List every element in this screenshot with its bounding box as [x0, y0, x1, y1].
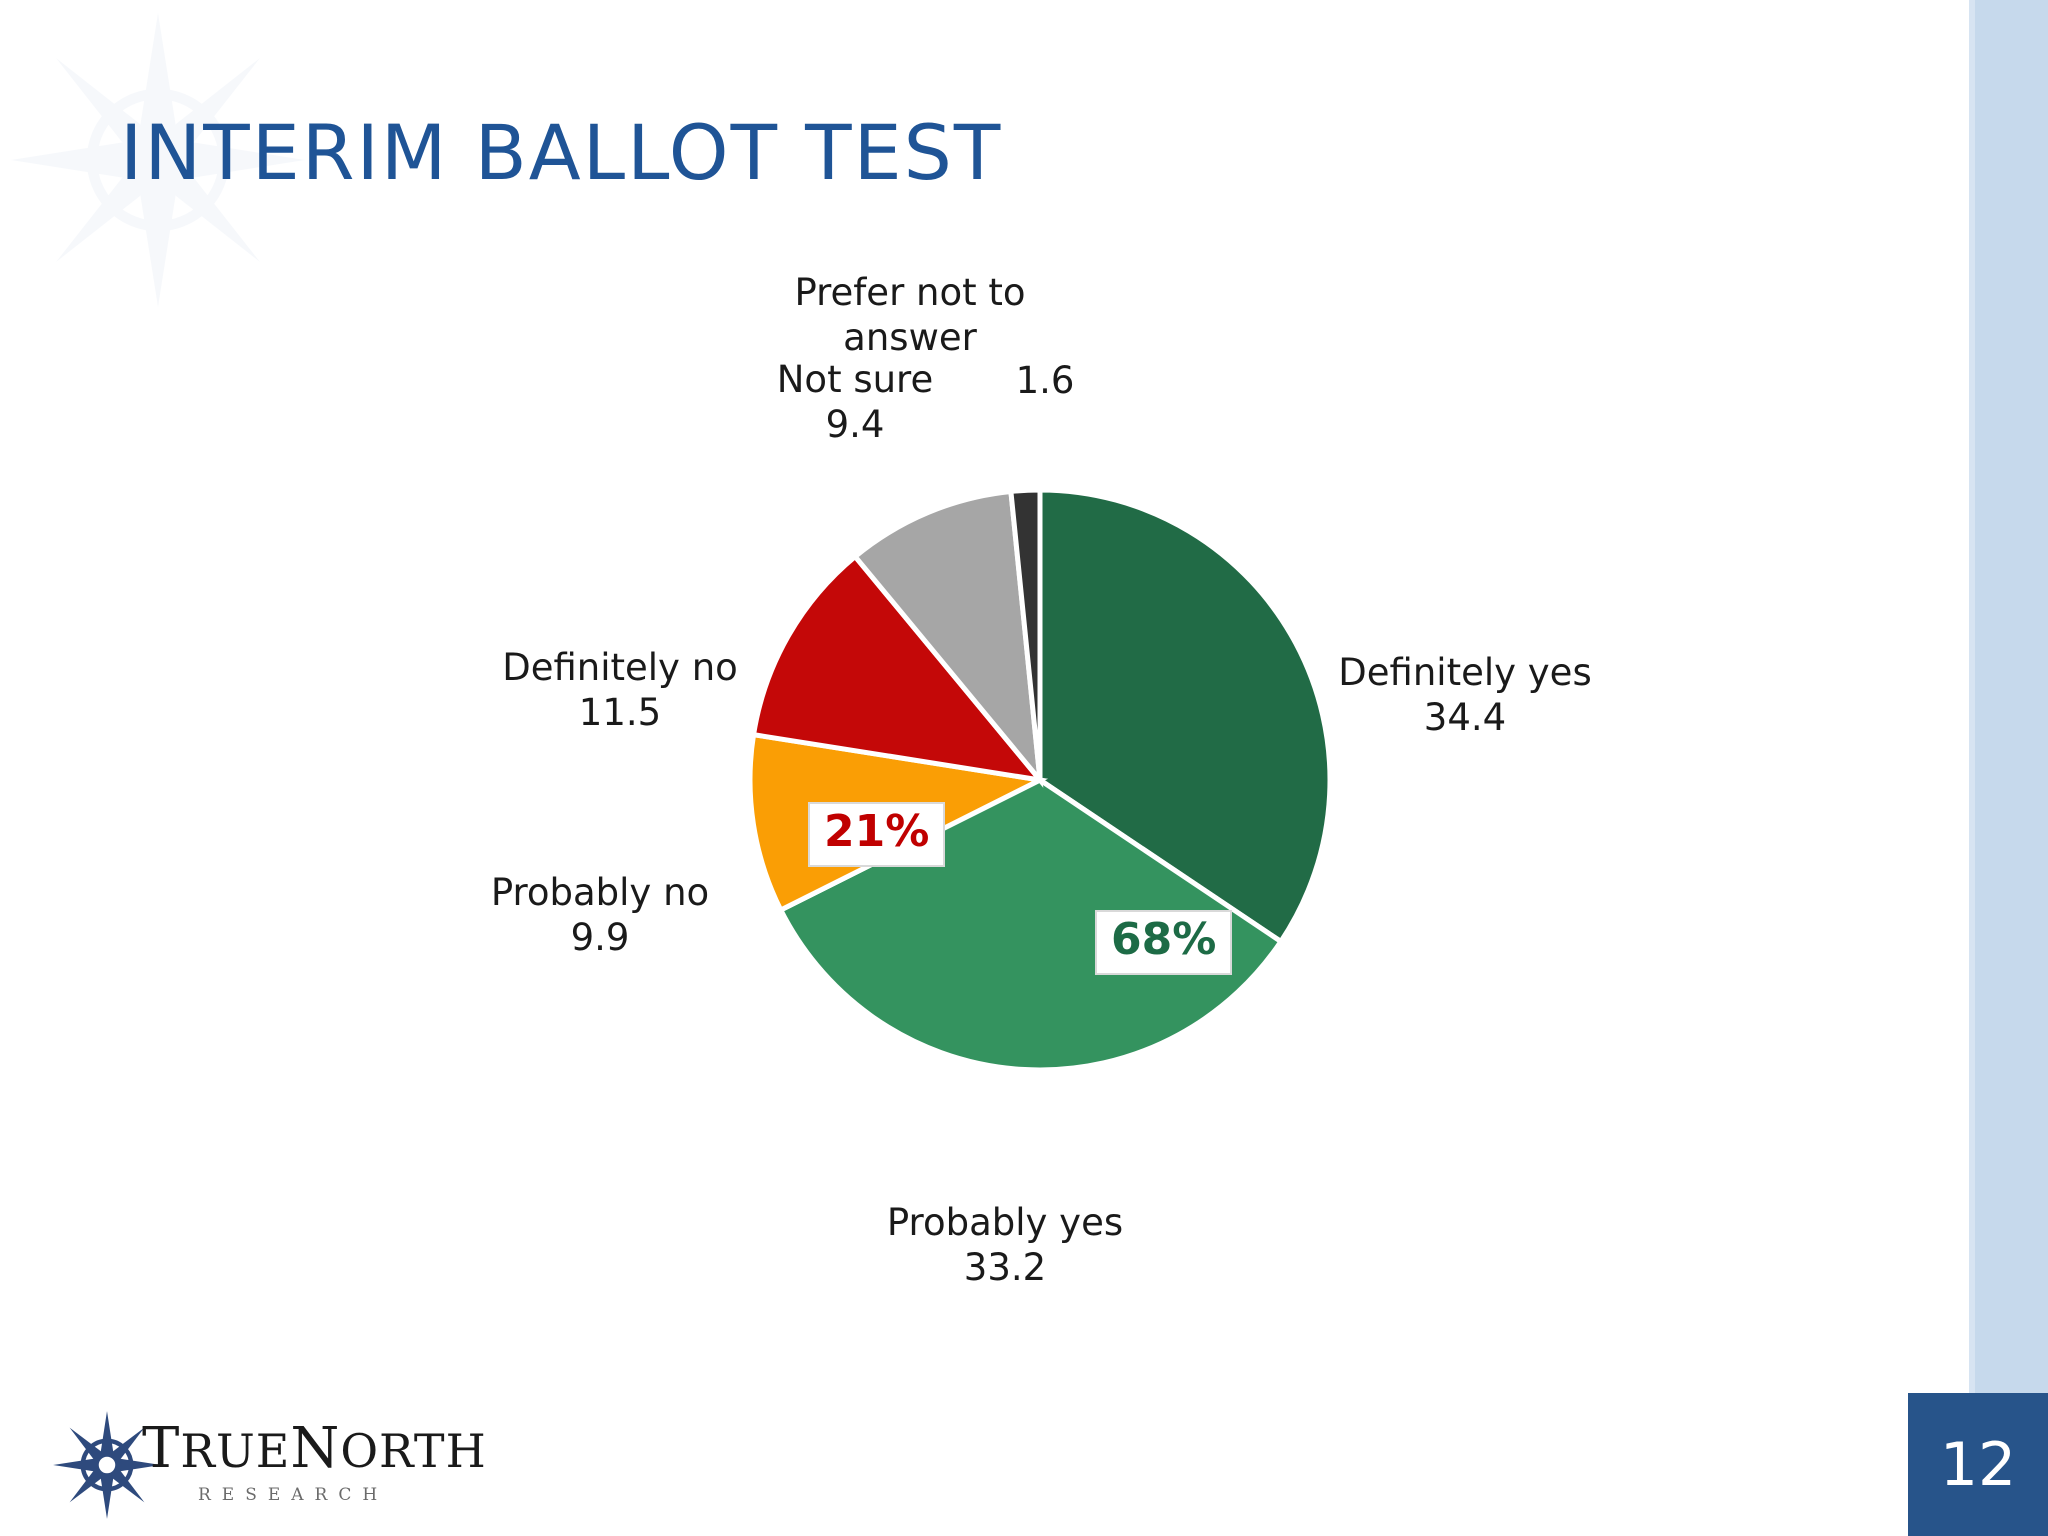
logo-name-rue: RUE [180, 1424, 290, 1478]
page-title: INTERIM BALLOT TEST [120, 108, 1002, 197]
pie-chart-svg [0, 250, 1975, 1330]
slice-label-not-sure: Not sure 9.4 [755, 357, 955, 447]
edge-band [1975, 0, 2048, 1536]
pie-chart: Prefer not to answer 1.6 Not sure 9.4 De… [0, 250, 1975, 1330]
slice-value-prefer-not-to-answer: 1.6 [985, 358, 1105, 403]
page-number: 12 [1908, 1430, 2048, 1500]
logo-subtitle: RESEARCH [198, 1485, 487, 1505]
slice-label-definitely-no: Definitely no 11.5 [470, 645, 770, 735]
slice-label-prefer-not-to-answer: Prefer not to answer [760, 270, 1060, 360]
slice-label-probably-no: Probably no 9.9 [455, 870, 745, 960]
logo-name-t: T [142, 1416, 180, 1481]
logo-name-n: N [290, 1416, 340, 1481]
logo-name: TRUENORTH [142, 1416, 487, 1481]
page-number-box: 12 [1908, 1393, 2048, 1536]
logo-name-orth: ORTH [340, 1424, 486, 1478]
callout-yes-total: 68% [1095, 910, 1232, 975]
company-logo: TRUENORTH RESEARCH [52, 1408, 472, 1518]
callout-no-total: 21% [808, 802, 945, 867]
logo-wordmark: TRUENORTH RESEARCH [142, 1416, 487, 1505]
pie-slice-group [750, 490, 1330, 1070]
slice-label-probably-yes: Probably yes 33.2 [840, 1200, 1170, 1290]
slice-label-definitely-yes: Definitely yes 34.4 [1300, 650, 1630, 740]
slide: INTERIM BALLOT TEST Prefer not to answer… [0, 0, 2048, 1536]
